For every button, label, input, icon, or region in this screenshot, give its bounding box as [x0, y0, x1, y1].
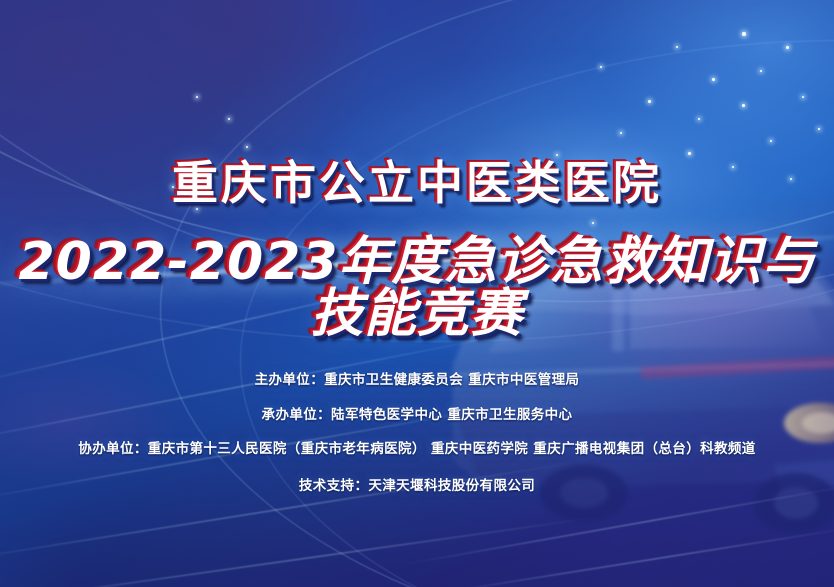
- poster-text-content: 重庆市公立中医类医院 2022-2023年度急诊急救知识与技能竞赛 主办单位：重…: [0, 0, 834, 587]
- page-subtitle: 2022-2023年度急诊急救知识与技能竞赛: [0, 236, 834, 340]
- credit-host: 承办单位：陆军特色医学中心 重庆市卫生服务中心: [0, 409, 834, 423]
- competition-poster: 重庆市公立中医类医院 2022-2023年度急诊急救知识与技能竞赛 主办单位：重…: [0, 0, 834, 587]
- page-title: 重庆市公立中医类医院: [0, 160, 834, 206]
- credit-technical-support: 技术支持：天津天堰科技股份有限公司: [0, 480, 834, 494]
- credits-block: 主办单位：重庆市卫生健康委员会 重庆市中医管理局 承办单位：陆军特色医学中心 重…: [0, 368, 834, 493]
- credit-co-organizer: 协办单位：重庆市第十三人民医院（重庆市老年病医院） 重庆中医药学院 重庆广播电视…: [0, 443, 834, 457]
- credit-organizer: 主办单位：重庆市卫生健康委员会 重庆市中医管理局: [0, 374, 834, 388]
